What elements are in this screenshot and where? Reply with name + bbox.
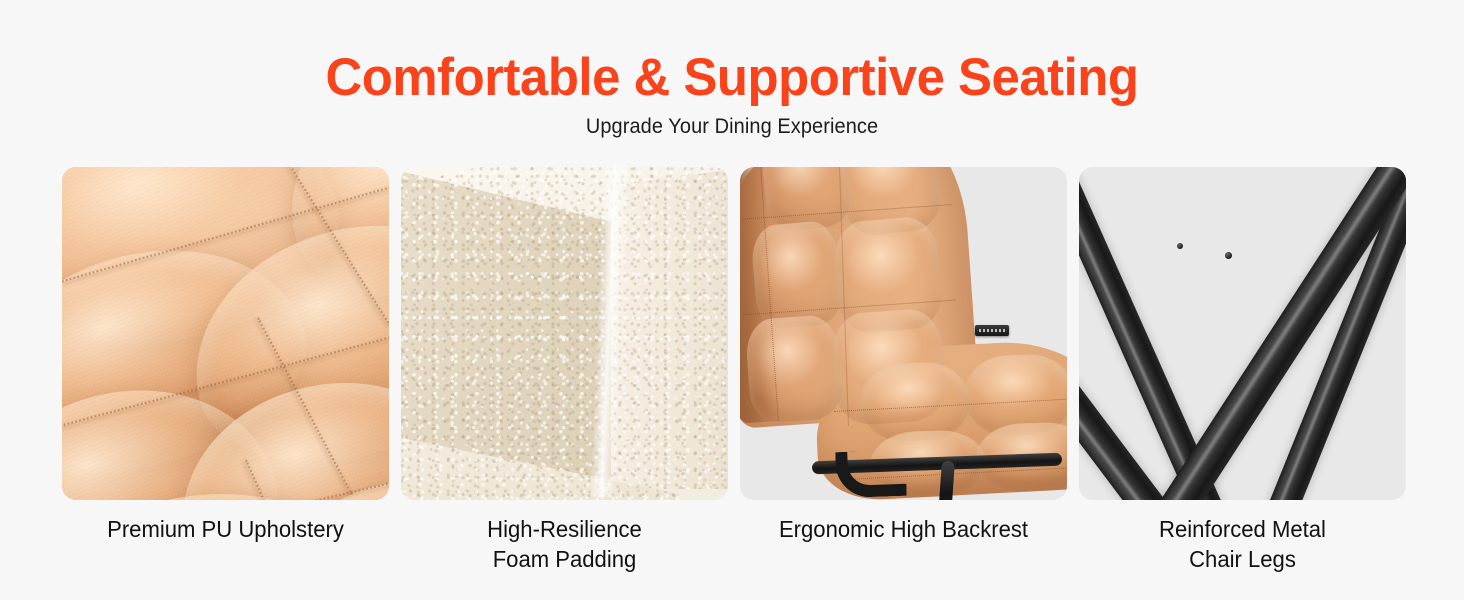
feature-panel-pu-upholstery: Premium PU Upholstery: [62, 167, 389, 575]
metal-legs-closeup-image: [1079, 167, 1406, 500]
feature-panel-foam-padding: High-Resilience Foam Padding: [401, 167, 728, 575]
backrest-tuft: [750, 219, 845, 330]
feature-caption: High-Resilience Foam Padding: [408, 514, 722, 575]
feature-caption: Reinforced Metal Chair Legs: [1086, 514, 1400, 575]
foam-block-closeup-image: [401, 167, 728, 500]
leg-joint-bolt: [1177, 243, 1183, 249]
foam-cell-texture: [596, 167, 728, 500]
header-block: Comfortable & Supportive Seating Upgrade…: [0, 0, 1464, 139]
chair-backrest-closeup-image: [740, 167, 1067, 500]
foam-side-face: [611, 167, 728, 489]
chair-body: [740, 167, 1067, 489]
page-title: Comfortable & Supportive Seating: [29, 50, 1434, 106]
feature-panel-metal-legs: Reinforced Metal Chair Legs: [1079, 167, 1406, 575]
pu-leather-texture-closeup-image: [62, 167, 389, 500]
brand-label-tag: [975, 325, 1009, 336]
product-feature-infographic: Comfortable & Supportive Seating Upgrade…: [0, 0, 1464, 600]
leg-joint-bolt: [1225, 252, 1232, 259]
feature-caption: Ergonomic High Backrest: [747, 514, 1061, 544]
backrest-tuft: [744, 314, 843, 424]
page-subtitle: Upgrade Your Dining Experience: [37, 115, 1428, 139]
feature-caption: Premium PU Upholstery: [69, 514, 383, 544]
feature-panel-row: Premium PU Upholstery High-Res: [62, 167, 1400, 575]
feature-panel-high-backrest: Ergonomic High Backrest: [740, 167, 1067, 575]
chair-leg: [938, 461, 955, 500]
